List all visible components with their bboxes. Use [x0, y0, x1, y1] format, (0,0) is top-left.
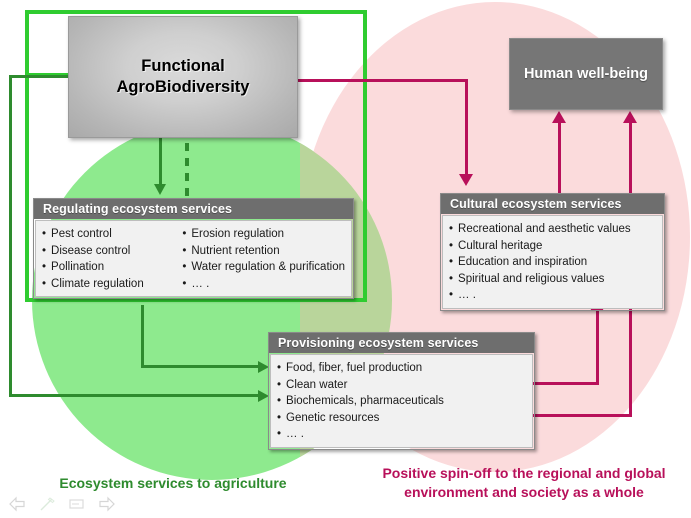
- connector-bright-green-right-down: [363, 10, 367, 302]
- regulating-panel-header: Regulating ecosystem services: [34, 199, 353, 219]
- connector-crimson-provisioning-to-cultural-v: [596, 310, 599, 385]
- cultural-items: Recreational and aesthetic values Cultur…: [449, 221, 656, 304]
- arrowhead-crimson-cultural-to-wellbeing: [552, 111, 566, 123]
- fab-title-line1: Functional: [141, 57, 224, 75]
- fab-title-line2: AgroBiodiversity: [117, 78, 250, 96]
- list-item: Education and inspiration: [449, 254, 656, 271]
- list-item: Cultural heritage: [449, 238, 656, 255]
- connector-bright-green-left-down: [25, 73, 29, 302]
- functional-agrobiodiversity-box[interactable]: Functional AgroBiodiversity: [68, 16, 298, 138]
- cultural-panel-body: Recreational and aesthetic values Cultur…: [442, 215, 663, 309]
- cultural-ecosystem-services-panel[interactable]: Cultural ecosystem services Recreational…: [440, 193, 665, 311]
- arrowhead-crimson-right-to-wellbeing: [623, 111, 637, 123]
- list-item: Biochemicals, pharmaceuticals: [277, 393, 526, 410]
- connector-crimson-provisioning-to-right: [533, 414, 632, 417]
- list-item: Clean water: [277, 377, 526, 394]
- cultural-panel-header: Cultural ecosystem services: [441, 194, 664, 214]
- connector-dark-green-from-fab: [9, 75, 71, 78]
- list-item: … .: [277, 426, 526, 443]
- caption-positive-spinoff-line2: environment and society as a whole: [404, 484, 644, 500]
- list-item: Genetic resources: [277, 410, 526, 427]
- regulating-panel-body: Pest control Disease control Pollination…: [35, 220, 352, 297]
- connector-crimson-provisioning-to-cultural-h: [533, 382, 599, 385]
- list-item: Disease control: [42, 243, 182, 260]
- arrowhead-fab-to-regulating: [154, 184, 166, 195]
- list-item: Food, fiber, fuel production: [277, 360, 526, 377]
- list-item: Water regulation & purification: [182, 259, 345, 276]
- list-item: Spiritual and religious values: [449, 271, 656, 288]
- connector-dark-green-branch-vertical: [141, 305, 144, 368]
- list-item: … .: [182, 276, 345, 293]
- list-item: Nutrient retention: [182, 243, 345, 260]
- list-item: Climate regulation: [42, 276, 182, 293]
- pen-icon[interactable]: [38, 496, 56, 517]
- diagram-canvas: Functional AgroBiodiversity Human well-b…: [0, 0, 691, 518]
- provisioning-panel-header: Provisioning ecosystem services: [269, 333, 534, 353]
- connector-crimson-fab-to-cultural-v: [465, 79, 468, 176]
- provisioning-items: Food, fiber, fuel production Clean water…: [277, 360, 526, 443]
- connector-dark-green-to-provisioning-upper: [141, 365, 262, 368]
- arrow-right-icon[interactable]: [98, 496, 116, 517]
- human-wellbeing-label: Human well-being: [524, 66, 648, 82]
- connector-crimson-cultural-to-wellbeing: [558, 122, 561, 195]
- caption-positive-spinoff: Positive spin-off to the regional and gl…: [362, 464, 686, 502]
- connector-crimson-fab-to-cultural-h: [296, 79, 468, 82]
- list-item: Pollination: [42, 259, 182, 276]
- list-item: Pest control: [42, 226, 182, 243]
- list-item: Recreational and aesthetic values: [449, 221, 656, 238]
- regulating-ecosystem-services-panel[interactable]: Regulating ecosystem services Pest contr…: [33, 198, 354, 299]
- caption-ecosystem-services: Ecosystem services to agriculture: [42, 475, 304, 491]
- connector-bright-green-top: [25, 10, 367, 14]
- nav-icon-bar: [8, 496, 116, 517]
- provisioning-panel-body: Food, fiber, fuel production Clean water…: [270, 354, 533, 448]
- connector-dark-green-to-provisioning-lower: [9, 394, 262, 397]
- caption-positive-spinoff-line1: Positive spin-off to the regional and gl…: [382, 465, 665, 481]
- human-wellbeing-box[interactable]: Human well-being: [509, 38, 663, 110]
- regulating-items-right: Erosion regulation Nutrient retention Wa…: [182, 226, 345, 292]
- connector-regulating-to-fab-dashed: [185, 128, 189, 198]
- list-item: … .: [449, 287, 656, 304]
- rectangle-icon[interactable]: [68, 496, 86, 517]
- connector-crimson-right-to-wellbeing: [629, 122, 632, 193]
- connector-crimson-right-vertical-lower: [629, 296, 632, 417]
- fab-title: Functional AgroBiodiversity: [117, 56, 250, 98]
- connector-dark-green-left-vertical: [9, 75, 12, 397]
- arrowhead-crimson-to-cultural: [459, 174, 473, 186]
- connector-bright-green-left-up: [25, 10, 29, 77]
- regulating-items-left: Pest control Disease control Pollination…: [42, 226, 182, 292]
- list-item: Erosion regulation: [182, 226, 345, 243]
- provisioning-ecosystem-services-panel[interactable]: Provisioning ecosystem services Food, fi…: [268, 332, 535, 450]
- arrow-left-icon[interactable]: [8, 496, 26, 517]
